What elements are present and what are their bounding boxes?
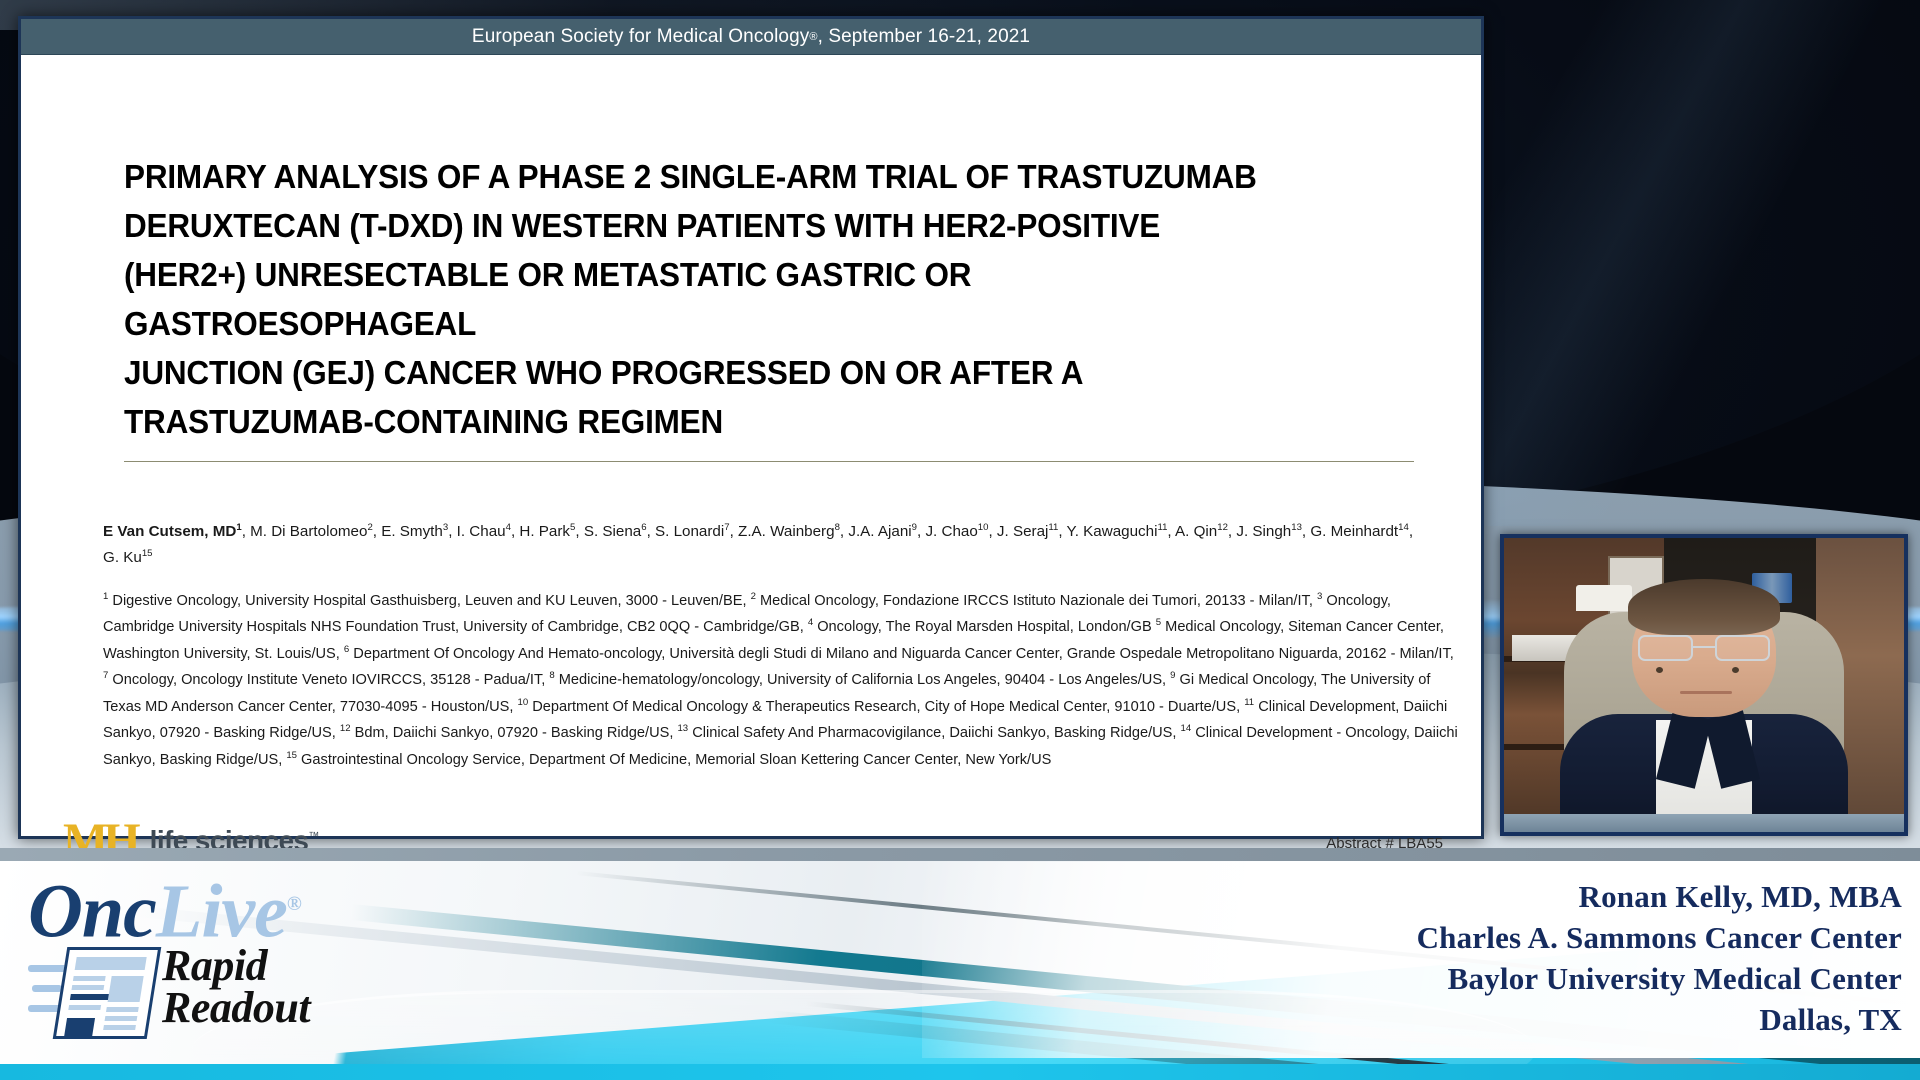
presenter-location: Dallas, TX: [1417, 999, 1902, 1040]
title-line-3: (HER2+) UNRESECTABLE OR METASTATIC GASTR…: [124, 251, 1308, 349]
presentation-slide[interactable]: European Society for Medical Oncology®, …: [18, 16, 1484, 839]
presenter-credit: Ronan Kelly, MD, MBA Charles A. Sammons …: [1417, 876, 1902, 1040]
title-line-2: DERUXTECAN (T-DXD) IN WESTERN PATIENTS W…: [124, 202, 1308, 251]
rapid-readout-text: Rapid Readout: [162, 945, 310, 1029]
registered-mark-icon: ®: [287, 893, 301, 915]
slide-content: PRIMARY ANALYSIS OF A PHASE 2 SINGLE-ARM…: [21, 55, 1481, 836]
title-divider: [124, 461, 1414, 462]
onclive-onc: Onc: [28, 869, 156, 953]
author-list: E Van Cutsem, MD1, M. Di Bartolomeo2, E.…: [103, 517, 1423, 569]
slide-header-bar: European Society for Medical Oncology®, …: [21, 19, 1481, 55]
affiliation-list: 1 Digestive Oncology, University Hospita…: [103, 586, 1463, 771]
mouth: [1680, 691, 1732, 694]
tagline-line-2: Readout: [162, 987, 310, 1029]
lens-left: [1638, 635, 1693, 661]
presenter-institution: Charles A. Sammons Cancer Center: [1417, 917, 1902, 958]
eyeglasses-icon: [1638, 635, 1770, 661]
title-line-1: PRIMARY ANALYSIS OF A PHASE 2 SINGLE-ARM…: [124, 153, 1308, 202]
slide-title: PRIMARY ANALYSIS OF A PHASE 2 SINGLE-ARM…: [124, 153, 1308, 447]
tissue-box: [1576, 585, 1632, 611]
glasses-bridge: [1693, 646, 1714, 648]
onclive-live: Live: [156, 869, 287, 953]
title-line-4: JUNCTION (GEJ) CANCER WHO PROGRESSED ON …: [124, 349, 1308, 398]
onclive-rapid-readout-logo[interactable]: OncLive®: [28, 866, 428, 1056]
presenter-organization: Baylor University Medical Center: [1417, 958, 1902, 999]
title-line-5: TRASTUZUMAB-CONTAINING REGIMEN: [124, 398, 1308, 447]
rapid-readout-row: Rapid Readout: [28, 945, 428, 1041]
presenter-video-tile[interactable]: [1500, 534, 1908, 836]
lens-right: [1715, 635, 1770, 661]
conference-dates: , September 16-21, 2021: [818, 26, 1031, 48]
conference-name: European Society for Medical Oncology: [472, 26, 809, 48]
onclive-wordmark: OncLive®: [28, 866, 428, 949]
document-page: [53, 947, 162, 1039]
broadcast-stage: European Society for Medical Oncology®, …: [0, 0, 1920, 1080]
lower-third-bar: OncLive®: [0, 848, 1920, 1080]
trademark-icon: ™: [308, 831, 318, 843]
presenter-name: Ronan Kelly, MD, MBA: [1417, 876, 1902, 917]
desk-surface: [1504, 814, 1904, 832]
bottom-cyan-edge: [0, 1064, 1920, 1080]
presenter-hair: [1628, 579, 1780, 635]
registered-mark-icon: ®: [809, 31, 817, 43]
top-grey-edge: [0, 848, 1920, 861]
newspaper-speed-icon: [28, 945, 156, 1041]
